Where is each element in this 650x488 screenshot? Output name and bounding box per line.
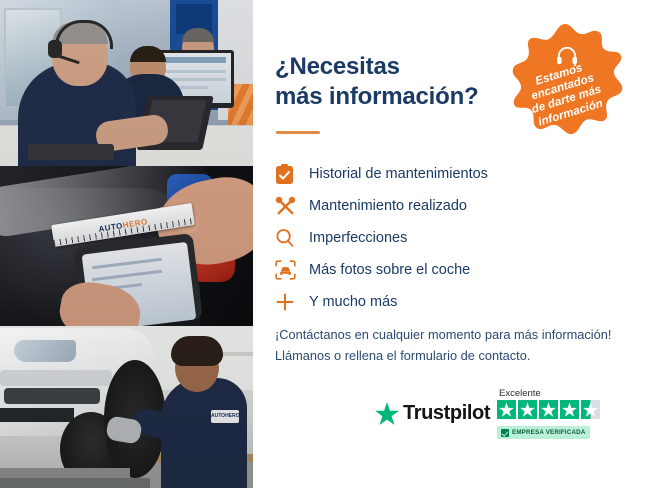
feature-list: Historial de mantenimientos Mantenimient… [275, 158, 625, 318]
car-bumper [0, 370, 112, 386]
trustpilot-rating-label: Excelente [499, 388, 541, 399]
feature-label: Y mucho más [309, 294, 397, 310]
verified-company-badge: EMPRESA VERIFICADA [497, 426, 590, 439]
star-filled [497, 400, 516, 419]
keyboard [28, 144, 114, 160]
photo-inspection: AUTOHERO [0, 166, 253, 326]
car-headlight [14, 340, 76, 362]
car-lift-base [0, 478, 150, 488]
contact-text: ¡Contáctanos en cualquier momento para m… [275, 325, 631, 366]
trustpilot-logo[interactable]: Trustpilot [375, 402, 490, 425]
title-underline-rule [276, 131, 320, 134]
car-grille [4, 388, 100, 404]
contact-line-1: ¡Contáctanos en cualquier momento para m… [275, 325, 631, 346]
trustpilot-star-icon [375, 402, 399, 425]
star-filled [518, 400, 537, 419]
monitor-screen-row [162, 70, 226, 73]
feature-label: Mantenimiento realizado [309, 198, 467, 214]
verified-company-label: EMPRESA VERIFICADA [512, 429, 586, 436]
trustpilot-widget[interactable]: Trustpilot Excelente EMPRESA VERIFICADA [375, 390, 635, 446]
contact-line-2: Llámanos o rellena el formulario de cont… [275, 346, 631, 367]
feature-label: Más fotos sobre el coche [309, 262, 470, 278]
star-half [581, 400, 600, 419]
clipboard-check-icon [275, 164, 309, 185]
feature-item-maintenance-done: Mantenimiento realizado [275, 190, 625, 222]
uniform-patch: AUTOHERO [211, 410, 239, 423]
tools-cross-icon [275, 196, 309, 217]
feature-label: Historial de mantenimientos [309, 166, 488, 182]
photo-mechanic: AUTOHERO [0, 326, 253, 488]
feature-item-maintenance-history: Historial de mantenimientos [275, 158, 625, 190]
person-2-hair [130, 46, 166, 62]
feature-item-more-photos: Más fotos sobre el coche [275, 254, 625, 286]
monitor-screen-bar [162, 57, 226, 63]
feature-item-imperfections: Imperfecciones [275, 222, 625, 254]
car-scan-icon [275, 260, 309, 280]
car-lower-grille [0, 408, 74, 422]
page-title-line-1: ¿Necesitas [275, 52, 505, 82]
magnifier-icon [275, 228, 309, 248]
trustpilot-brand-name: Trustpilot [403, 402, 490, 425]
star-filled [560, 400, 579, 419]
trustpilot-stars [497, 400, 600, 419]
verified-check-icon [501, 429, 509, 437]
feature-label: Imperfecciones [309, 230, 407, 246]
photo-call-center [0, 0, 253, 166]
photo-column: AUTOHERO AUTOHE [0, 0, 253, 488]
mechanic-hair [171, 336, 223, 366]
plus-icon [275, 292, 309, 312]
feature-item-much-more: Y mucho más [275, 286, 625, 318]
star-filled [539, 400, 558, 419]
content-panel: ¿Necesitas más información? Estamos enca… [253, 0, 650, 488]
page-title-line-2: más información? [275, 82, 505, 112]
promo-badge: Estamos encantados de darte más informac… [499, 22, 631, 156]
page-title: ¿Necesitas más información? [275, 52, 505, 112]
promo-banner: AUTOHERO AUTOHE [0, 0, 650, 488]
